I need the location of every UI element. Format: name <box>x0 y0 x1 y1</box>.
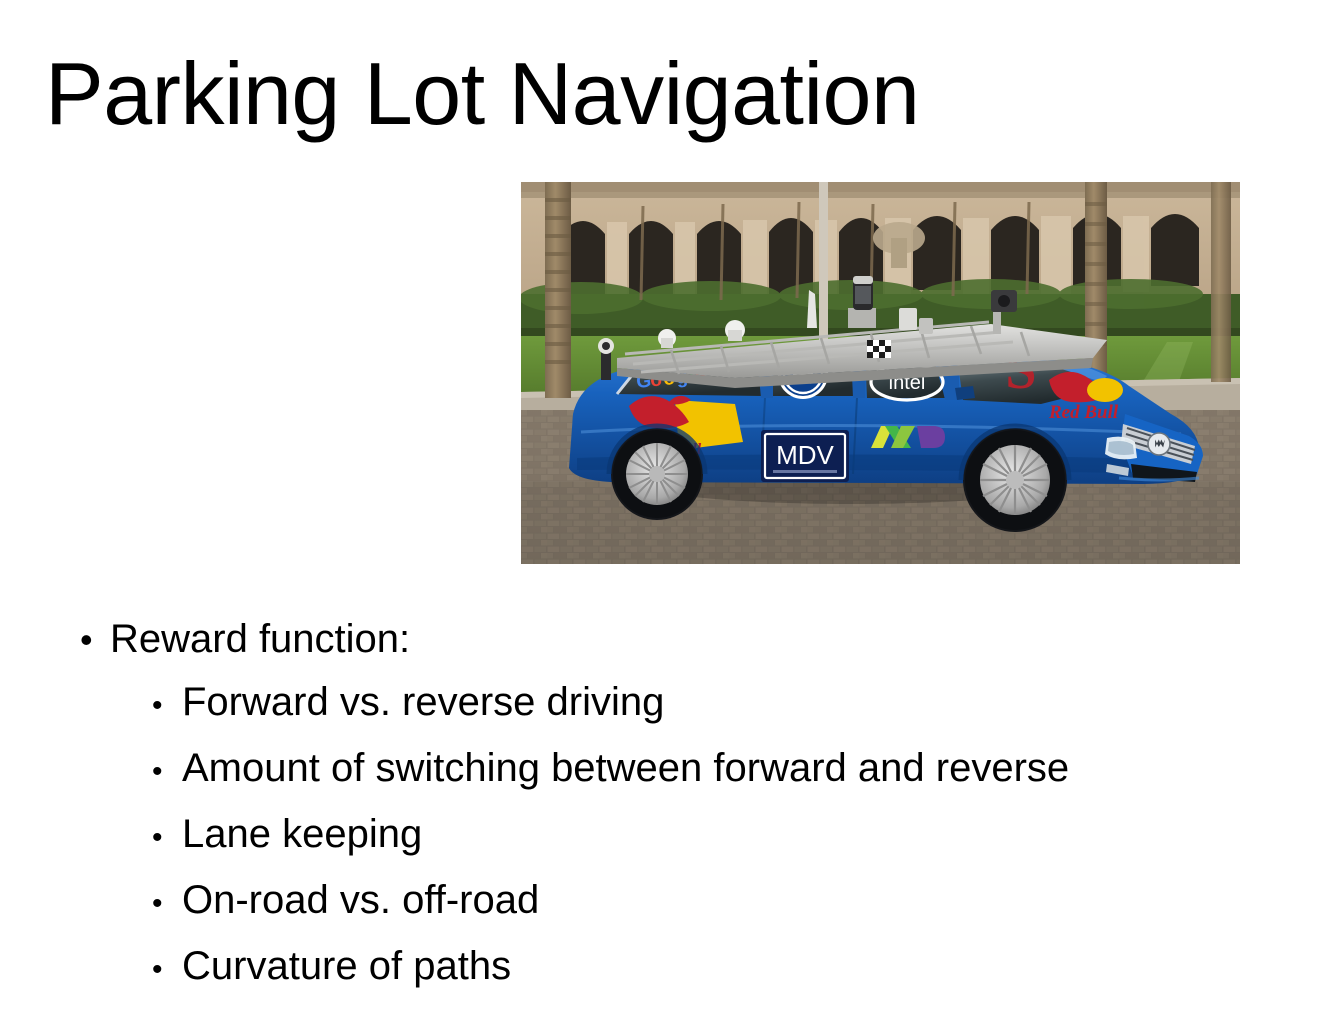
bullet-dot-icon: • <box>152 938 182 1001</box>
logo-mdv: MDV <box>761 430 849 482</box>
list-item: • On-road vs. off-road <box>152 869 1280 935</box>
list-item: • Reward function: <box>80 608 1280 671</box>
bullet-dot-icon: • <box>80 608 110 671</box>
list-item: • Curvature of paths <box>152 935 1280 1001</box>
list-item: • Amount of switching between forward an… <box>152 737 1280 803</box>
svg-text:Red Bull: Red Bull <box>1048 402 1119 423</box>
bullet-dot-icon: • <box>152 740 182 803</box>
vehicle-photo-artwork: G o o g l e intel <box>521 182 1240 564</box>
logo-red-bull-hood: Red Bull <box>1048 372 1123 423</box>
list-item-label: Reward function: <box>110 608 1280 671</box>
list-item-label: Lane keeping <box>182 803 1280 866</box>
bullet-list: • Reward function: • Forward vs. reverse… <box>80 608 1280 1001</box>
list-item-label: Curvature of paths <box>182 935 1280 998</box>
bullet-dot-icon: • <box>152 872 182 935</box>
list-item: • Lane keeping <box>152 803 1280 869</box>
list-item-label: Forward vs. reverse driving <box>182 671 1280 734</box>
vehicle-photo: G o o g l e intel <box>521 182 1240 564</box>
list-item: • Forward vs. reverse driving <box>152 671 1280 737</box>
svg-text:MDV: MDV <box>776 440 834 470</box>
list-item-label: Amount of switching between forward and … <box>182 737 1280 800</box>
list-item-label: On-road vs. off-road <box>182 869 1280 932</box>
page-title: Parking Lot Navigation <box>45 50 919 138</box>
logo-nxp <box>871 426 945 448</box>
presentation-slide: Parking Lot Navigation <box>0 0 1340 1012</box>
wheel-front <box>963 428 1067 532</box>
bullet-dot-icon: • <box>152 806 182 869</box>
bullet-dot-icon: • <box>152 674 182 737</box>
